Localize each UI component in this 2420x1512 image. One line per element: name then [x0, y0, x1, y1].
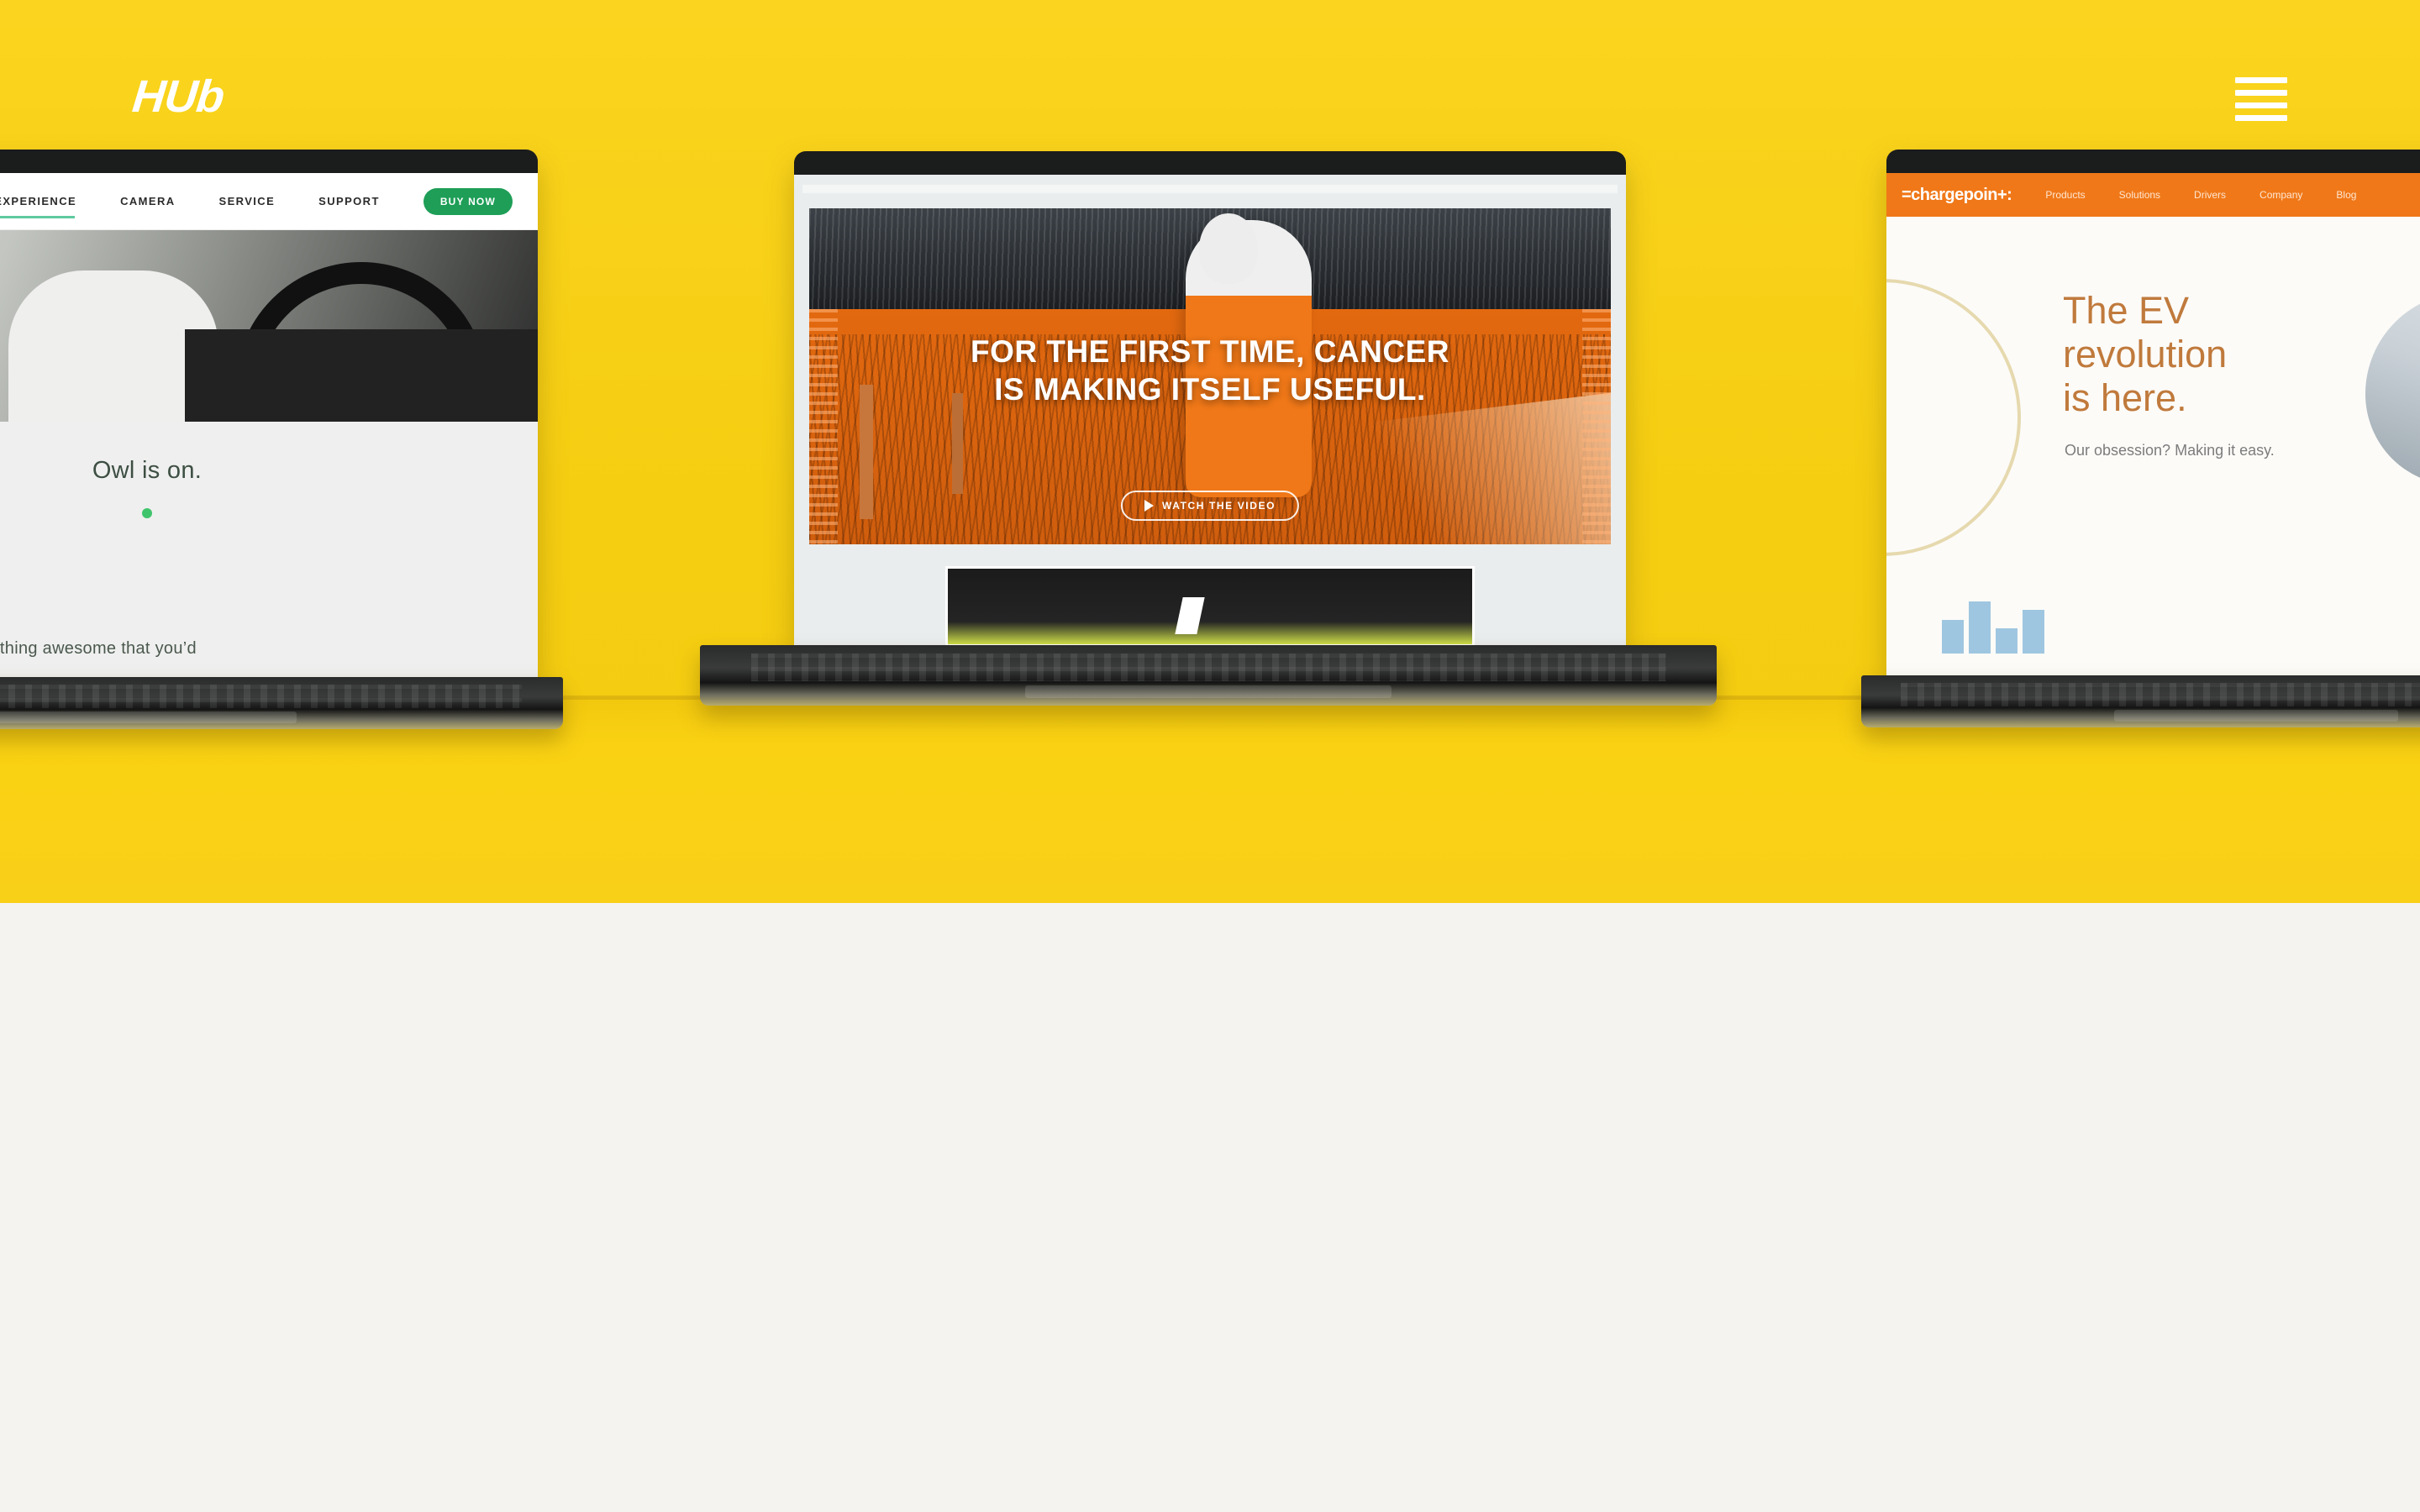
owl-status-dot-icon [142, 508, 152, 518]
laptop-screen-cancer: FOR THE FIRST TIME, CANCER IS MAKING ITS… [794, 175, 1626, 645]
hamburger-line [2235, 115, 2287, 121]
hero-section: EXPERIENCE CAMERA SERVICE SUPPORT BUY NO… [0, 0, 2420, 903]
owl-nav-service[interactable]: SERVICE [219, 195, 276, 207]
keyboard [0, 685, 522, 709]
hamburger-line [2235, 90, 2287, 96]
cp-headline-line1: The EV [2063, 289, 2227, 333]
cc-browser-chrome [802, 185, 1618, 193]
cc-hero-image: FOR THE FIRST TIME, CANCER IS MAKING ITS… [809, 208, 1611, 544]
cp-nav-company[interactable]: Company [2260, 189, 2302, 201]
play-icon [1144, 500, 1154, 512]
trackpad [1025, 685, 1391, 699]
cp-nav-blog[interactable]: Blog [2336, 189, 2356, 201]
cc-watch-video-button[interactable]: WATCH THE VIDEO [1121, 491, 1299, 521]
laptop-cancer-campaign: FOR THE FIRST TIME, CANCER IS MAKING ITS… [794, 151, 1717, 706]
cc-road-image [945, 566, 1475, 645]
owl-buy-now-button[interactable]: BUY NOW [423, 188, 513, 215]
owl-hero-photo [0, 230, 538, 422]
cp-headline-line2: revolution [2063, 333, 2227, 376]
laptop-screen-owl: EXPERIENCE CAMERA SERVICE SUPPORT BUY NO… [0, 173, 538, 677]
laptop-lid: =chargepoin+: Products Solutions Drivers… [1886, 150, 2420, 675]
keyboard [1901, 683, 2420, 707]
owl-body-text: mera that does everything awesome that y… [0, 639, 479, 659]
laptop-lid: EXPERIENCE CAMERA SERVICE SUPPORT BUY NO… [0, 150, 538, 677]
hub-logo[interactable]: HUb [130, 74, 226, 119]
hamburger-line [2235, 77, 2287, 83]
keyboard [751, 654, 1666, 681]
laptop-chargepoint: =chargepoin+: Products Solutions Drivers… [1886, 150, 2420, 727]
chargepoint-logo: =chargepoin+: [1902, 186, 2012, 205]
owl-nav-camera[interactable]: CAMERA [120, 195, 175, 207]
laptop-lid: FOR THE FIRST TIME, CANCER IS MAKING ITS… [794, 151, 1626, 645]
cc-page: FOR THE FIRST TIME, CANCER IS MAKING ITS… [794, 175, 1626, 645]
cp-car-image [2365, 292, 2420, 486]
cp-nav-solutions[interactable]: Solutions [2119, 189, 2160, 201]
laptop-bezel [0, 150, 538, 173]
trackpad [0, 711, 297, 723]
cc-headline-line1: FOR THE FIRST TIME, CANCER [809, 333, 1611, 370]
cp-headline: The EV revolution is here. [2063, 289, 2227, 421]
owl-headline: Owl is on. [92, 457, 202, 485]
cp-body: The EV revolution is here. Our obsession… [1886, 217, 2420, 675]
cp-nav-products[interactable]: Products [2045, 189, 2085, 201]
trackpad [2114, 710, 2398, 722]
laptop-base [700, 645, 1717, 706]
site-header: HUb [0, 0, 2420, 151]
laptop-bezel [1886, 150, 2420, 173]
laptop-base [0, 677, 563, 729]
cc-headline-line2: IS MAKING ITSELF USEFUL. [809, 370, 1611, 408]
owl-nav-experience[interactable]: EXPERIENCE [0, 195, 76, 207]
cp-subhead: Our obsession? Making it easy. [2065, 442, 2275, 459]
cp-nav-drivers[interactable]: Drivers [2194, 189, 2226, 201]
owl-body: Owl is on. mera that does everything awe… [0, 422, 538, 677]
hamburger-menu-icon[interactable] [2235, 77, 2287, 121]
cp-city-illustration [1942, 601, 2044, 654]
cc-headline: FOR THE FIRST TIME, CANCER IS MAKING ITS… [809, 333, 1611, 408]
cp-arc-decoration [1886, 279, 2021, 556]
owl-nav: EXPERIENCE CAMERA SERVICE SUPPORT BUY NO… [0, 173, 538, 230]
cc-watch-label: WATCH THE VIDEO [1162, 500, 1276, 512]
hamburger-line [2235, 102, 2287, 108]
owl-nav-support[interactable]: SUPPORT [318, 195, 380, 207]
cp-headline-line3: is here. [2063, 376, 2227, 420]
laptop-base [1861, 675, 2420, 727]
cp-nav: =chargepoin+: Products Solutions Drivers… [1886, 173, 2420, 217]
laptop-screen-chargepoint: =chargepoin+: Products Solutions Drivers… [1886, 173, 2420, 675]
laptop-bezel [794, 151, 1626, 175]
laptop-owl: EXPERIENCE CAMERA SERVICE SUPPORT BUY NO… [0, 150, 563, 729]
